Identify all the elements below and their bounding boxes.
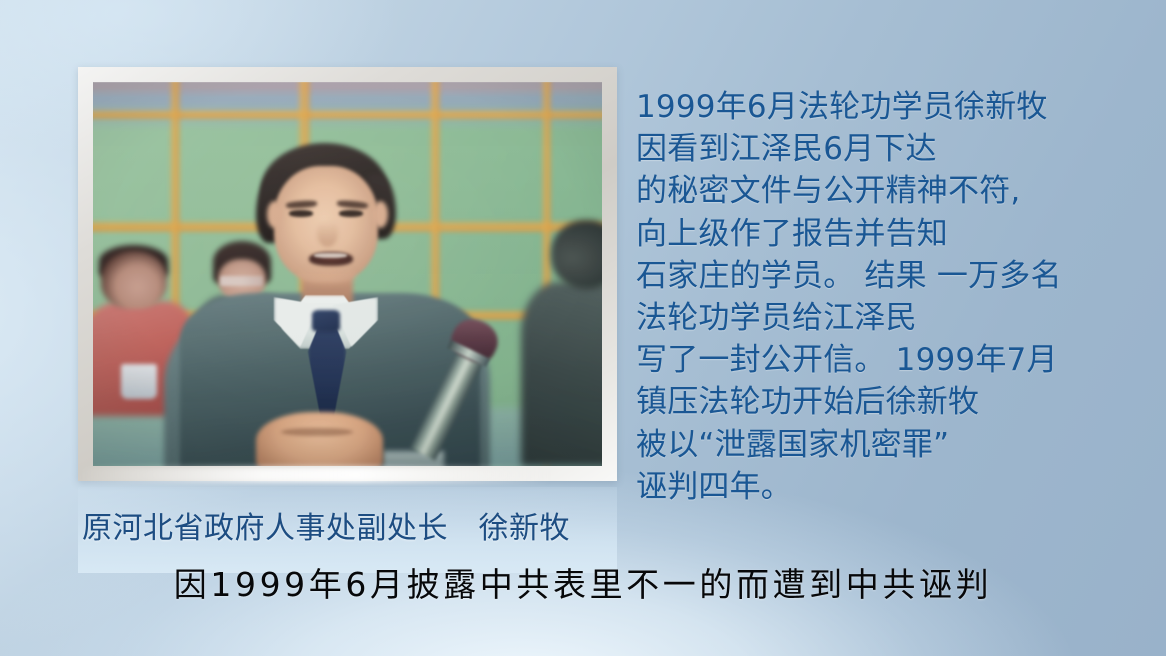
photo-scene: [93, 82, 602, 466]
body-text-line: 的秘密文件与公开精神不符,: [636, 170, 1164, 212]
slide-stage: 原河北省政府人事处副处长 徐新牧 1999年6月法轮功学员徐新牧 因看到江泽民6…: [0, 0, 1166, 656]
photo-vignette: [93, 82, 602, 466]
body-text-line: 1999年6月法轮功学员徐新牧: [636, 86, 1164, 128]
body-text-line: 诬判四年。: [636, 466, 1164, 508]
body-text-block: 1999年6月法轮功学员徐新牧 因看到江泽民6月下达 的秘密文件与公开精神不符,…: [636, 86, 1164, 508]
body-text-line: 写了一封公开信。 1999年7月: [636, 339, 1164, 381]
bottom-subtitle: 因1999年6月披露中共表里不一的而遭到中共诬判: [0, 563, 1166, 607]
body-text-line: 因看到江泽民6月下达: [636, 128, 1164, 170]
photo-frame: [78, 67, 617, 481]
body-text-line: 法轮功学员给江泽民: [636, 297, 1164, 339]
body-text-line: 向上级作了报告并告知: [636, 213, 1164, 255]
press-conference-photo: [93, 82, 602, 466]
photo-caption: 原河北省政府人事处副处长 徐新牧: [82, 510, 642, 548]
body-text-line: 石家庄的学员。 结果 一万多名: [636, 255, 1164, 297]
body-text-line: 被以“泄露国家机密罪”: [636, 424, 1164, 466]
body-text-line: 镇压法轮功开始后徐新牧: [636, 381, 1164, 423]
